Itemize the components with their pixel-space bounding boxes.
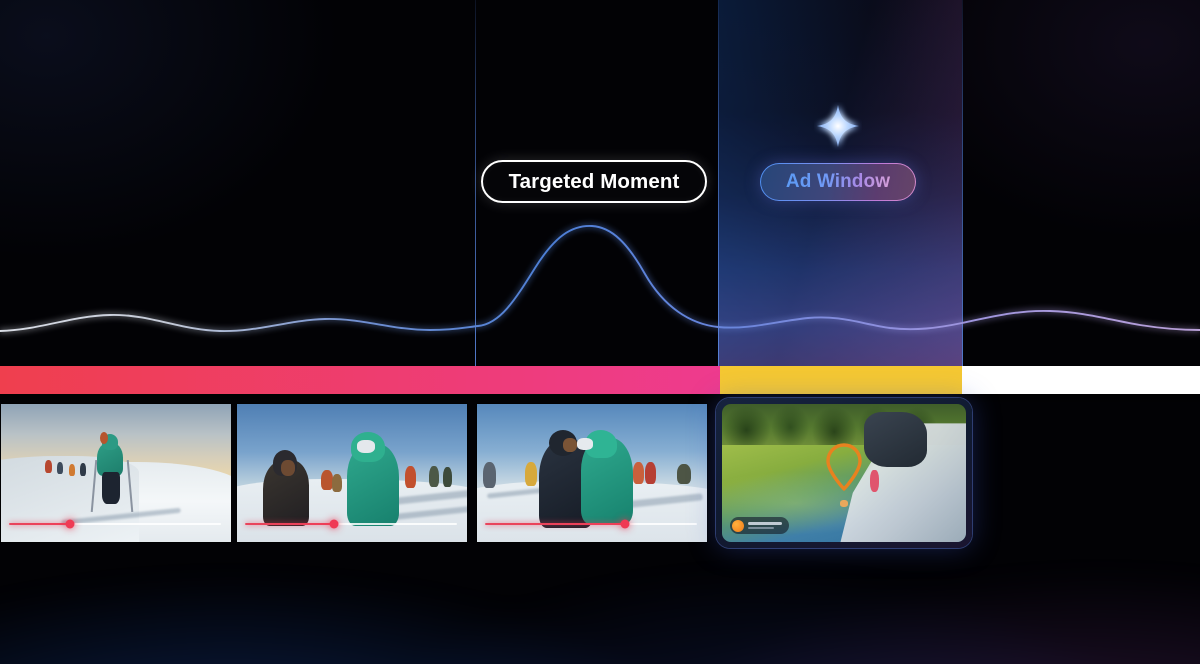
timeline-color-bar[interactable] <box>0 366 1200 394</box>
ad-segment-yellow[interactable] <box>720 366 962 394</box>
thumbnail-hiker-ascending[interactable] <box>0 403 232 543</box>
progress-fill <box>9 523 70 525</box>
thumbnail-image <box>477 404 707 542</box>
thumbnail-image <box>1 404 231 542</box>
content-segment-red[interactable] <box>0 366 720 394</box>
progress-fill <box>485 523 625 525</box>
thumbnail-embrace[interactable] <box>476 403 708 543</box>
ad-creative-image <box>722 404 966 542</box>
advertiser-badge[interactable] <box>730 517 789 534</box>
ad-creative-card[interactable] <box>716 398 972 548</box>
progress-fill <box>245 523 334 525</box>
thumbnail-strip <box>0 403 1200 545</box>
progress-knob[interactable] <box>330 520 339 529</box>
advertiser-badge-text <box>748 522 782 529</box>
location-pin-icon <box>825 441 863 493</box>
targeted-moment-text: Targeted Moment <box>509 170 680 194</box>
progress-knob[interactable] <box>66 520 75 529</box>
targeted-moment-label[interactable]: Targeted Moment <box>481 160 707 203</box>
ad-window-text: Ad Window <box>786 171 890 193</box>
ad-window-label[interactable]: Ad Window <box>760 163 916 201</box>
scene-canvas: Targeted Moment Ad Window <box>0 0 1200 664</box>
sparkle-icon <box>814 102 862 150</box>
post-ad-segment-white[interactable] <box>962 366 1200 394</box>
thumbnail-progress-bar[interactable] <box>245 523 457 525</box>
thumbnail-progress-bar[interactable] <box>9 523 221 525</box>
thumbnail-progress-bar[interactable] <box>485 523 697 525</box>
progress-knob[interactable] <box>620 520 629 529</box>
thumbnail-proposal-kneeling[interactable] <box>236 403 468 543</box>
advertiser-logo-icon <box>732 520 744 532</box>
thumbnail-image <box>237 404 467 542</box>
